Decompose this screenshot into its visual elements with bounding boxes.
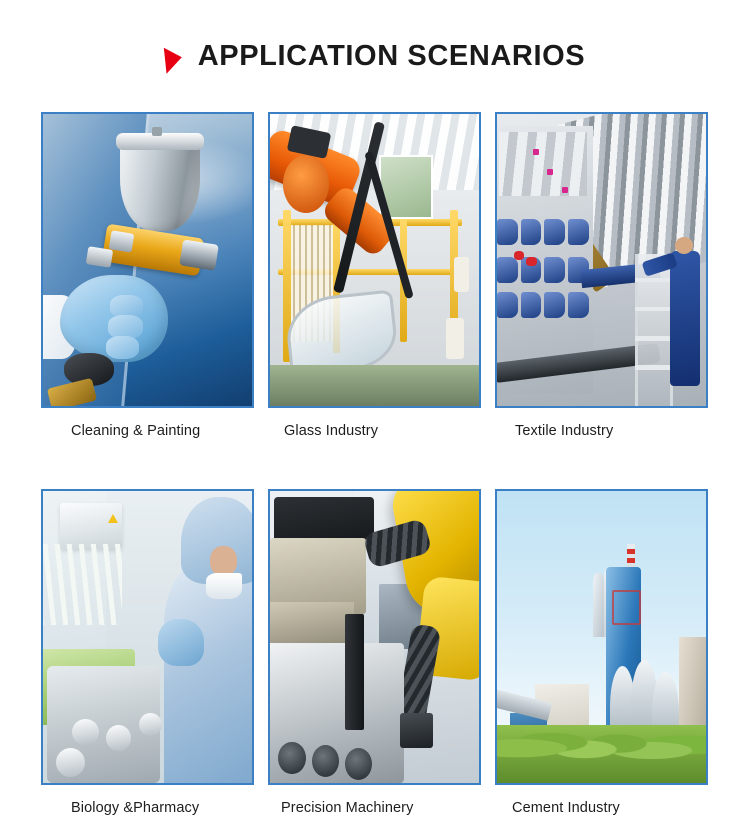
spray-gun-painting-car-image bbox=[43, 114, 252, 406]
scenario-thumbnail[interactable] bbox=[495, 112, 708, 408]
scenario-card-cleaning-painting[interactable]: Cleaning & Painting bbox=[41, 112, 254, 439]
scenario-caption: Biology &Pharmacy bbox=[41, 800, 254, 816]
scenario-caption: Cement Industry bbox=[495, 800, 708, 816]
red-triangle-bullet-icon bbox=[164, 44, 183, 74]
cleanroom-technician-machine-image bbox=[43, 491, 252, 783]
orange-robot-arm-glass-line-image bbox=[270, 114, 479, 406]
scenario-card-biology-pharmacy[interactable]: Biology &Pharmacy bbox=[41, 489, 254, 816]
application-scenarios-page: APPLICATION SCENARIOS Cleaning & bbox=[0, 0, 750, 835]
scenario-card-cement-industry[interactable]: Cement Industry bbox=[495, 489, 708, 816]
scenario-gallery: Cleaning & Painting bbox=[41, 112, 709, 816]
gallery-row: Cleaning & Painting bbox=[41, 112, 709, 439]
scenario-caption: Cleaning & Painting bbox=[41, 423, 254, 439]
scenario-caption: Precision Machinery bbox=[268, 800, 481, 816]
cement-plant-silos-chimney-image bbox=[497, 491, 706, 783]
scenario-card-glass-industry[interactable]: Glass Industry bbox=[268, 112, 481, 439]
gallery-row: Biology &Pharmacy Precision Machinery bbox=[41, 489, 709, 816]
page-title: APPLICATION SCENARIOS bbox=[198, 40, 585, 73]
scenario-thumbnail[interactable] bbox=[268, 112, 481, 408]
scenario-card-textile-industry[interactable]: Textile Industry bbox=[495, 112, 708, 439]
textile-spinning-machine-worker-image bbox=[497, 114, 706, 406]
scenario-thumbnail[interactable] bbox=[495, 489, 708, 785]
page-header: APPLICATION SCENARIOS bbox=[0, 40, 750, 73]
scenario-thumbnail[interactable] bbox=[41, 489, 254, 785]
scenario-thumbnail[interactable] bbox=[41, 112, 254, 408]
scenario-caption: Glass Industry bbox=[268, 423, 481, 439]
scenario-caption: Textile Industry bbox=[495, 423, 708, 439]
scenario-thumbnail[interactable] bbox=[268, 489, 481, 785]
yellow-robot-engine-block-image bbox=[270, 491, 479, 783]
scenario-card-precision-machinery[interactable]: Precision Machinery bbox=[268, 489, 481, 816]
